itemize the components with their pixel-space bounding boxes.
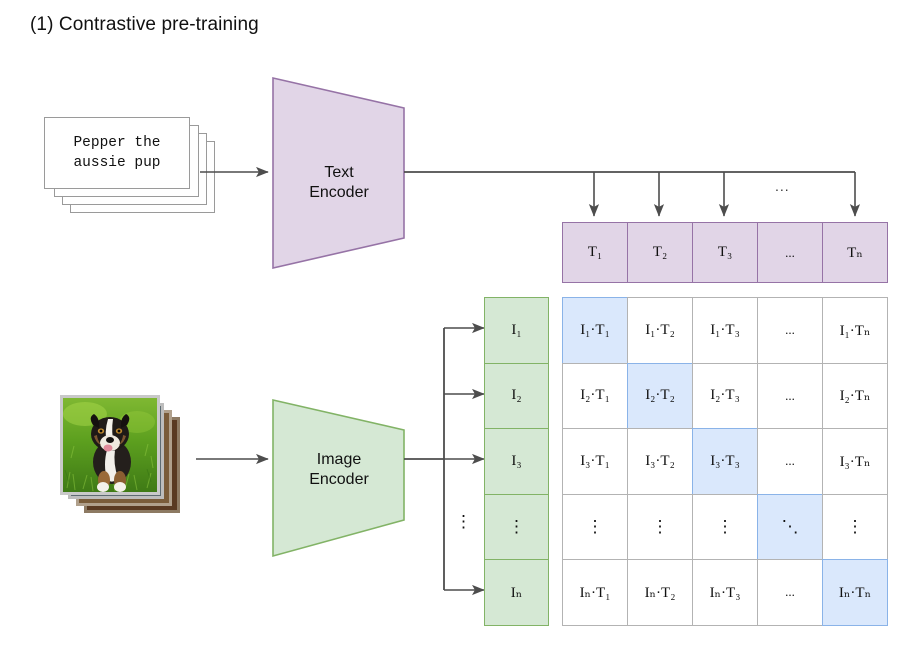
- similarity-cell: I₂·Tₙ: [822, 363, 888, 430]
- similarity-cell: Iₙ·T₂: [627, 559, 693, 626]
- similarity-cell: I₃·T₁: [562, 428, 628, 495]
- similarity-cell: Iₙ·Tₙ: [822, 559, 888, 626]
- similarity-cell: I₃·T₃: [692, 428, 758, 495]
- similarity-cell: ...: [757, 428, 823, 495]
- similarity-cell: ⋱: [757, 494, 823, 561]
- similarity-cell: I₁·T₂: [627, 297, 693, 364]
- text-embedding-cell: T₂: [627, 222, 693, 283]
- text-embedding-cell: ...: [757, 222, 823, 283]
- similarity-cell: ...: [757, 297, 823, 364]
- similarity-cell: ⋮: [692, 494, 758, 561]
- clip-contrastive-pretraining-diagram: (1) Contrastive pre-training Pepper the …: [0, 0, 906, 654]
- puppy-photo-illustration: [63, 398, 157, 492]
- puppy-photo: [60, 395, 160, 495]
- image-embedding-cell: I₃: [484, 428, 549, 495]
- text-embedding-cell: T₁: [562, 222, 628, 283]
- similarity-cell: I₁·T₁: [562, 297, 628, 364]
- image-embedding-cell: I₁: [484, 297, 549, 364]
- caption-card: Pepper the aussie pup: [44, 117, 190, 189]
- similarity-cell: I₃·Tₙ: [822, 428, 888, 495]
- image-embedding-cell: ⋮: [484, 494, 549, 561]
- similarity-cell: I₃·T₂: [627, 428, 693, 495]
- text-embedding-cell: Tₙ: [822, 222, 888, 283]
- similarity-cell: ⋮: [562, 494, 628, 561]
- similarity-cell: I₂·T₁: [562, 363, 628, 430]
- caption-text: Pepper the aussie pup: [73, 133, 160, 173]
- similarity-cell: ...: [757, 559, 823, 626]
- image-embedding-cell: Iₙ: [484, 559, 549, 626]
- image-encoder-label: Image Encoder: [283, 450, 395, 490]
- similarity-cell: I₁·T₃: [692, 297, 758, 364]
- similarity-cell: ⋮: [627, 494, 693, 561]
- text-embedding-cell: T₃: [692, 222, 758, 283]
- similarity-cell: I₂·T₃: [692, 363, 758, 430]
- similarity-cell: I₁·Tₙ: [822, 297, 888, 364]
- page-title: (1) Contrastive pre-training: [30, 14, 259, 36]
- similarity-cell: Iₙ·T₁: [562, 559, 628, 626]
- text-encoder-label: Text Encoder: [283, 163, 395, 203]
- similarity-cell: Iₙ·T₃: [692, 559, 758, 626]
- similarity-cell: ...: [757, 363, 823, 430]
- image-bus-ellipsis: ⋮: [455, 512, 472, 532]
- text-bus-ellipsis: ...: [775, 178, 790, 194]
- image-embedding-cell: I₂: [484, 363, 549, 430]
- similarity-cell: ⋮: [822, 494, 888, 561]
- similarity-cell: I₂·T₂: [627, 363, 693, 430]
